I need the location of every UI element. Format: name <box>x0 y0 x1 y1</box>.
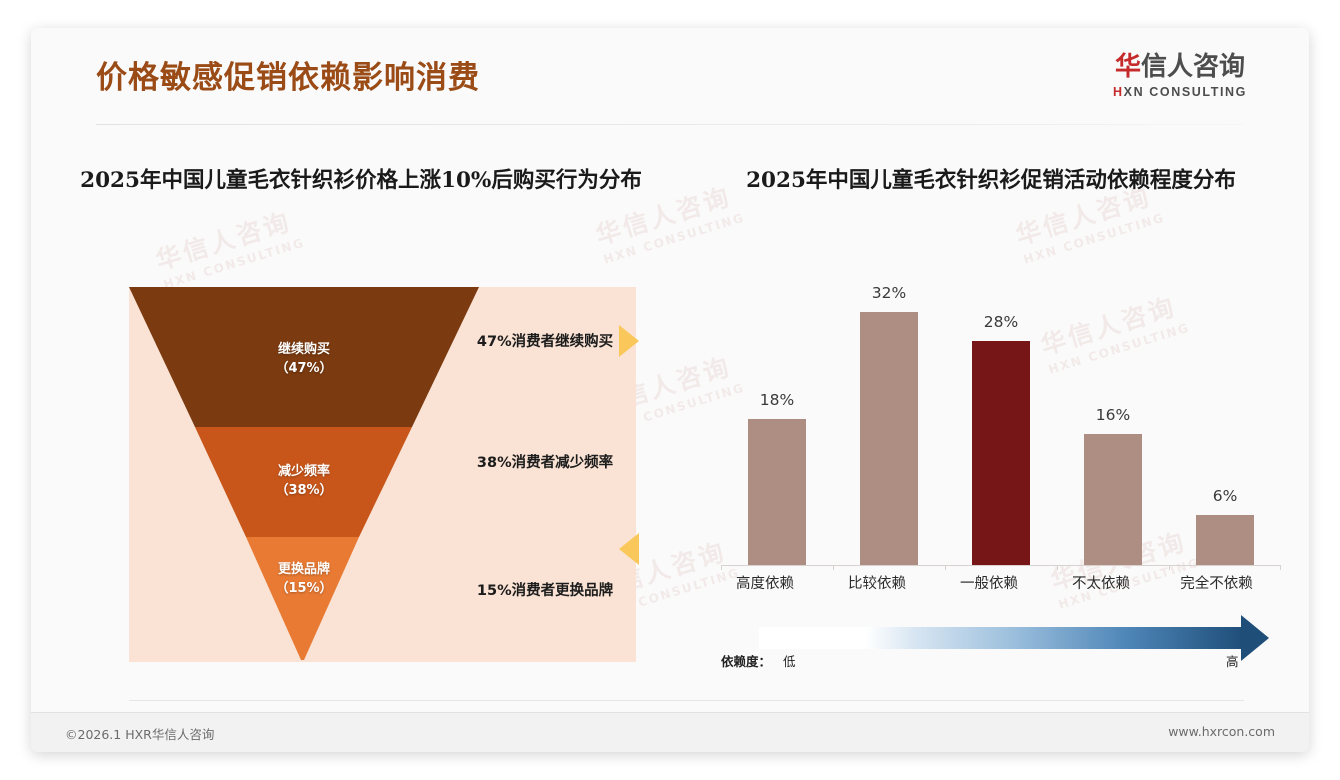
funnel-note-1: 47%消费者继续购买 <box>454 330 636 351</box>
bar-butai-yilai[interactable] <box>1084 434 1142 565</box>
bar-value-2: 32% <box>844 284 934 302</box>
logo-cn-rest: 信人咨询 <box>1141 52 1245 82</box>
slide-footer: ©2026.1 HXR华信人咨询 www.hxrcon.com <box>31 712 1309 752</box>
bar-value-3: 28% <box>956 313 1046 331</box>
watermark-line1: 华信人咨询 <box>151 200 302 277</box>
logo-english-text: HXN CONSULTING <box>1113 84 1247 100</box>
page-title: 价格敏感促销依赖影响消费 <box>96 52 480 97</box>
right-arrow-icon <box>619 325 639 357</box>
slide-canvas: 价格敏感促销依赖影响消费 华信人咨询 HXN CONSULTING 华信人咨询 … <box>31 28 1309 752</box>
copyright-text: ©2026.1 HXR华信人咨询 <box>65 724 214 743</box>
logo-chinese-text: 华信人咨询 <box>1113 52 1247 82</box>
gradient-arrow-icon <box>1241 615 1269 661</box>
funnel-seg1-name: 继续购买 <box>278 342 330 357</box>
bar-gaodu-yilai[interactable] <box>748 419 806 565</box>
watermark: 华信人咨询 HXN CONSULTING <box>151 200 307 292</box>
watermark-line2: HXN CONSULTING <box>162 235 307 291</box>
bar-wanquan-bu-yilai[interactable] <box>1196 515 1254 565</box>
left-chart-title: 2025年中国儿童毛衣针织衫价格上涨10%后购买行为分布 <box>51 166 671 196</box>
bar-value-5: 6% <box>1180 487 1270 505</box>
watermark-line2: HXN CONSULTING <box>1022 210 1167 266</box>
logo-en-highlight: H <box>1113 85 1124 99</box>
left-arrow-icon <box>619 533 639 565</box>
logo-cn-highlight: 华 <box>1115 52 1141 82</box>
funnel-seg2-name: 减少频率 <box>278 464 330 479</box>
bar-bijiao-yilai[interactable] <box>860 312 918 565</box>
bar-value-1: 18% <box>732 391 822 409</box>
category-label-3: 一般依赖 <box>924 572 1054 593</box>
legend-caption: 依赖度： <box>721 651 771 670</box>
category-label-2: 比较依赖 <box>812 572 942 593</box>
footer-divider <box>31 712 1309 713</box>
dependency-gradient-legend: 依赖度： 低 高 <box>721 613 1281 671</box>
logo-en-rest: XN CONSULTING <box>1124 85 1247 99</box>
funnel-note-2: 38%消费者减少频率 <box>454 451 636 472</box>
legend-high-label: 高 <box>1226 651 1239 670</box>
funnel-seg2-pct: （38%） <box>275 483 332 498</box>
funnel-seg3-pct: （15%） <box>275 581 332 596</box>
watermark-line2: HXN CONSULTING <box>602 210 747 266</box>
category-label-1: 高度依赖 <box>700 572 830 593</box>
dependency-bar-chart: 18% 32% 28% 16% 6% <box>721 274 1281 566</box>
funnel-note-3: 15%消费者更换品牌 <box>454 579 636 600</box>
gradient-bar <box>759 627 1243 649</box>
header-divider <box>96 124 1244 125</box>
legend-low-label: 低 <box>783 651 796 670</box>
funnel-segment-3[interactable] <box>246 537 359 660</box>
category-label-5: 完全不依赖 <box>1144 572 1289 593</box>
right-chart-title: 2025年中国儿童毛衣针织衫促销活动依赖程度分布 <box>691 166 1291 196</box>
funnel-segment-label-3: 更换品牌 （15%） <box>189 560 419 598</box>
x-axis-line <box>721 565 1281 566</box>
funnel-seg1-pct: （47%） <box>275 361 332 376</box>
bar-value-4: 16% <box>1068 406 1158 424</box>
funnel-segment-label-2: 减少频率 （38%） <box>189 462 419 500</box>
footnote-divider <box>129 700 1244 701</box>
slide-header: 价格敏感促销依赖影响消费 华信人咨询 HXN CONSULTING <box>31 28 1309 124</box>
funnel-seg3-name: 更换品牌 <box>278 562 330 577</box>
bar-yiban-yilai[interactable] <box>972 341 1030 565</box>
website-link[interactable]: www.hxrcon.com <box>1168 724 1275 739</box>
funnel-segment-label-1: 继续购买 （47%） <box>189 340 419 378</box>
company-logo: 华信人咨询 HXN CONSULTING <box>1113 52 1247 100</box>
funnel-chart: 继续购买 （47%） 减少频率 （38%） 更换品牌 （15%） 47%消费者继… <box>129 287 636 662</box>
